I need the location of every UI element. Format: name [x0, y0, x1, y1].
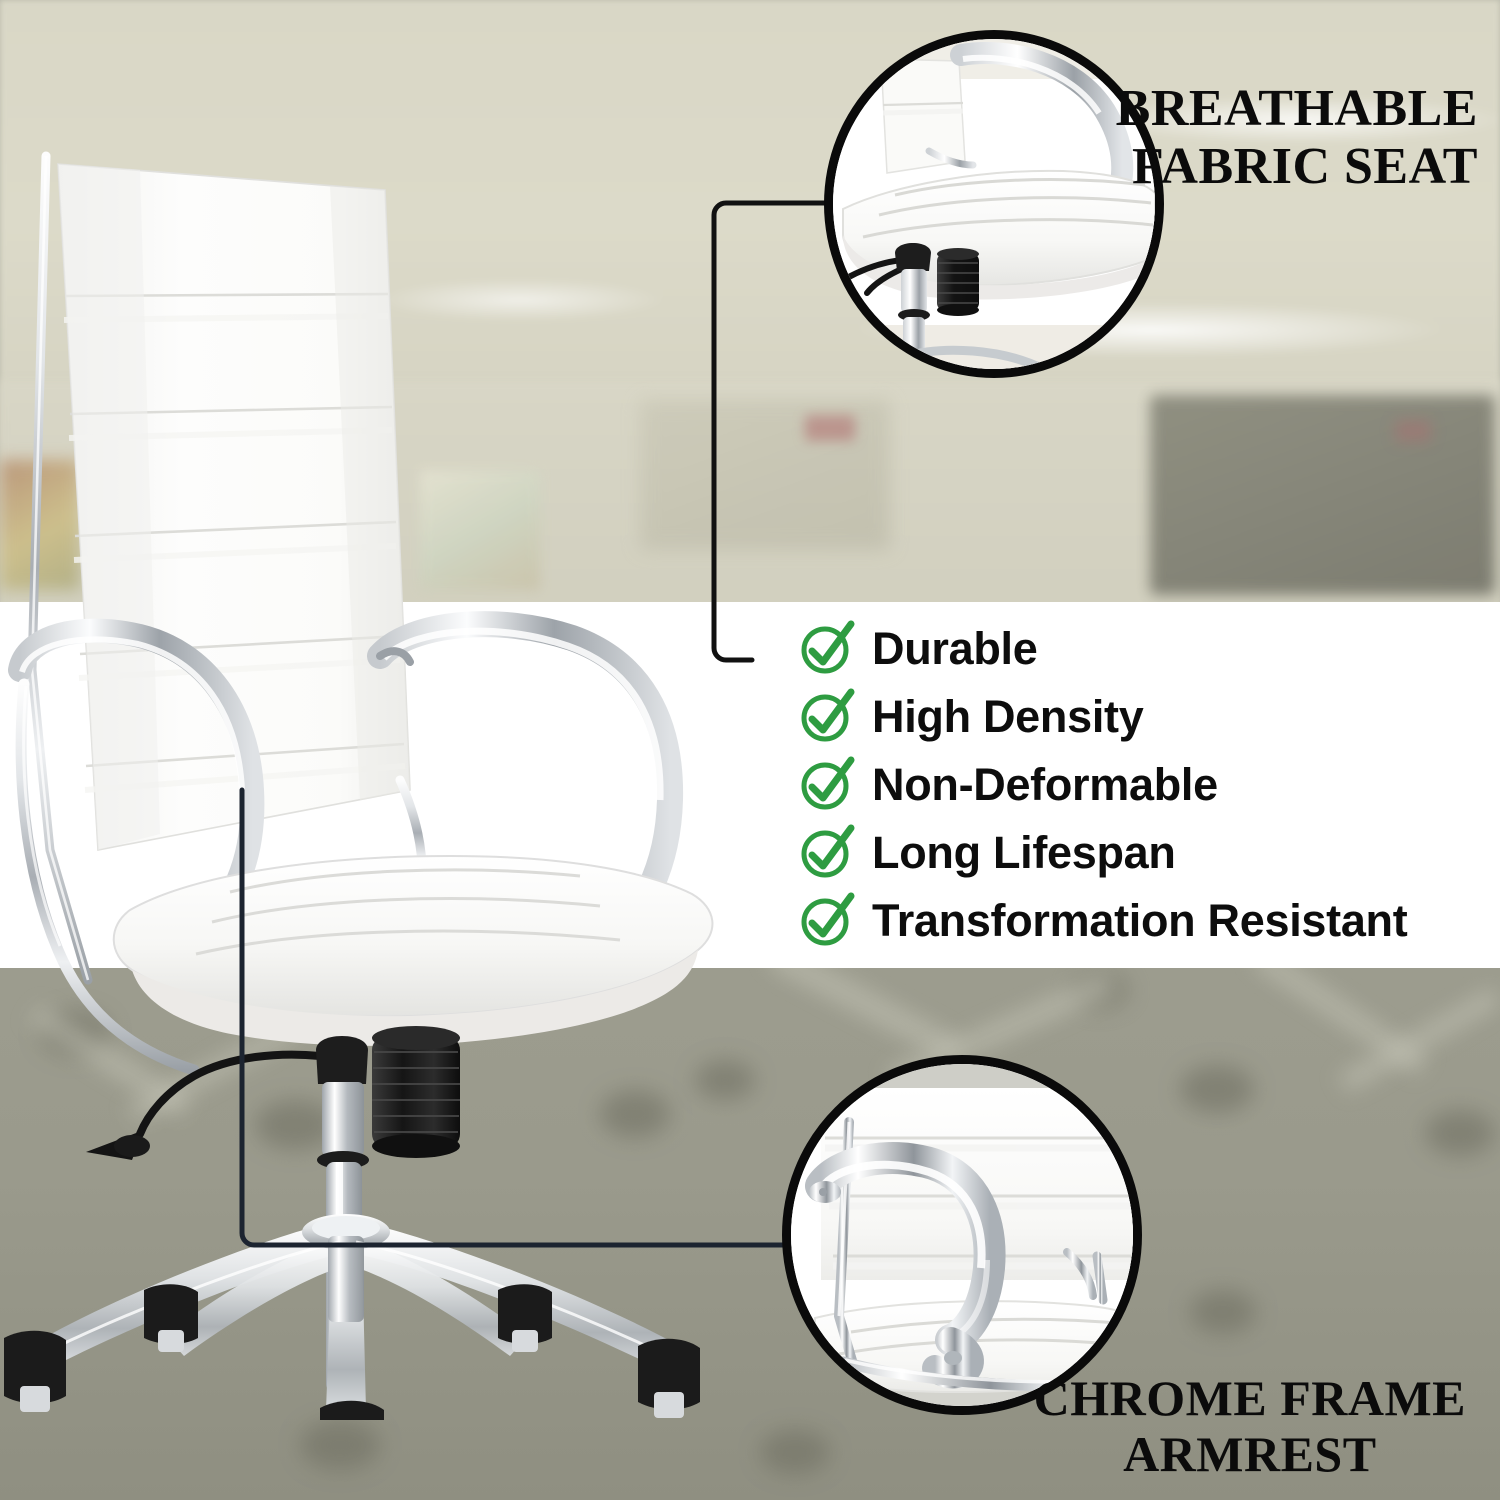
check-circle-icon	[798, 755, 856, 813]
feature-label: Long Lifespan	[872, 830, 1176, 875]
feature-item: Transformation Resistant	[798, 889, 1407, 951]
feature-label: Transformation Resistant	[872, 898, 1407, 943]
exit-sign-right	[1395, 420, 1431, 442]
check-circle-icon	[798, 687, 856, 745]
callout-title-line2: FABRIC SEAT	[1116, 138, 1478, 196]
callout-armrest-detail-image	[791, 1064, 1133, 1406]
callout-title-line2: ARMREST	[1034, 1426, 1466, 1482]
callout-circle-breathable-fabric-seat	[824, 30, 1164, 378]
callout-title-breathable-fabric-seat: BREATHABLE FABRIC SEAT	[1116, 80, 1478, 196]
callout-seat-detail-image	[833, 39, 1155, 369]
feature-label: High Density	[872, 694, 1143, 739]
check-circle-icon	[798, 891, 856, 949]
check-circle-icon	[798, 823, 856, 881]
feature-item: Non-Deformable	[798, 753, 1407, 815]
product-infographic: BREATHABLE FABRIC SEAT CHROME FRAME ARMR…	[0, 0, 1500, 1500]
feature-item: Long Lifespan	[798, 821, 1407, 883]
background-blur-shape	[300, 1420, 380, 1470]
wall-panel-right	[1150, 395, 1495, 595]
feature-list: Durable High Density Non-Deformable Long…	[798, 617, 1407, 951]
callout-circle-chrome-frame-armrest	[782, 1055, 1142, 1415]
callout-title-line1: CHROME FRAME	[1034, 1370, 1466, 1426]
callout-title-line1: BREATHABLE	[1116, 80, 1478, 137]
feature-item: Durable	[798, 617, 1407, 679]
callout-title-chrome-frame-armrest: CHROME FRAME ARMREST	[1034, 1370, 1466, 1482]
background-blur-shape	[1425, 1110, 1495, 1156]
background-blur-shape	[1190, 1290, 1256, 1334]
background-blur-shape	[760, 1430, 830, 1474]
product-image-chair	[0, 150, 760, 1420]
check-circle-icon	[798, 619, 856, 677]
exit-sign	[805, 415, 855, 441]
feature-label: Non-Deformable	[872, 762, 1218, 807]
feature-label: Durable	[872, 626, 1037, 671]
feature-item: High Density	[798, 685, 1407, 747]
background-blur-shape	[1180, 1065, 1254, 1113]
